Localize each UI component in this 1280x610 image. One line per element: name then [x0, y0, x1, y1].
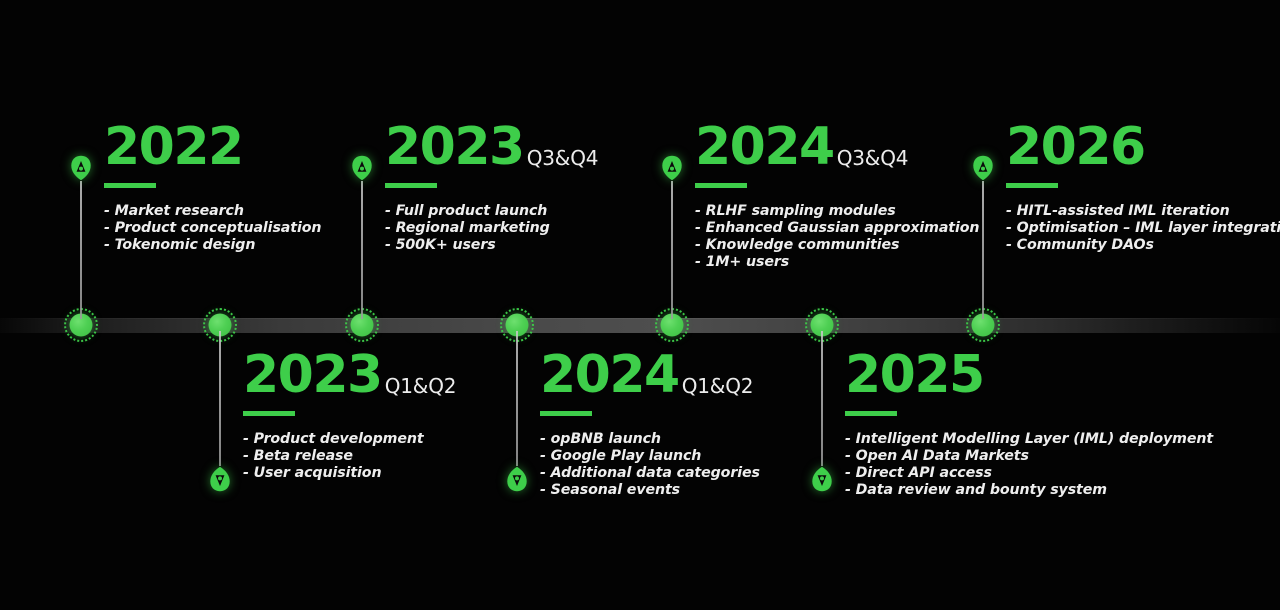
entry-item-list: - Intelligent Modelling Layer (IML) depl… — [845, 431, 1213, 499]
entry-underline — [243, 411, 295, 416]
entry-year: 2023 — [385, 124, 524, 172]
connector-stem-2023-q1q2 — [219, 331, 221, 466]
list-item: - Seasonal events — [540, 482, 760, 499]
list-item: - Intelligent Modelling Layer (IML) depl… — [845, 431, 1213, 448]
list-item: - Full product launch — [385, 203, 598, 220]
entry-quarter: Q1&Q2 — [385, 376, 457, 400]
pin-marker-2024-q3q4[interactable] — [661, 155, 683, 181]
entry-year: 2024 — [540, 352, 679, 400]
entry-heading: 2023Q3&Q4 — [385, 124, 598, 172]
connector-stem-2023-q3q4 — [361, 181, 363, 319]
pin-marker-2023-q3q4[interactable] — [351, 155, 373, 181]
list-item: - 500K+ users — [385, 237, 598, 254]
entry-year: 2023 — [243, 352, 382, 400]
connector-stem-2024-q1q2 — [516, 331, 518, 466]
entry-item-list: - Market research- Product conceptualisa… — [104, 203, 321, 254]
entry-heading: 2024Q3&Q4 — [695, 124, 979, 172]
list-item: - Community DAOs — [1006, 237, 1280, 254]
entry-quarter: Q3&Q4 — [837, 148, 909, 172]
timeline-axis — [0, 318, 1280, 333]
list-item: - Optimisation – IML layer integration — [1006, 220, 1280, 237]
list-item: - Data review and bounty system — [845, 482, 1213, 499]
entry-year: 2026 — [1006, 124, 1145, 172]
entry-underline — [385, 183, 437, 188]
entry-quarter: Q1&Q2 — [682, 376, 754, 400]
list-item: - Tokenomic design — [104, 237, 321, 254]
list-item: - Beta release — [243, 448, 456, 465]
entry-item-list: - RLHF sampling modules- Enhanced Gaussi… — [695, 203, 979, 271]
connector-stem-2024-q3q4 — [671, 181, 673, 319]
entry-item-list: - opBNB launch- Google Play launch- Addi… — [540, 431, 760, 499]
entry-underline — [695, 183, 747, 188]
pin-marker-2025[interactable] — [811, 466, 833, 492]
list-item: - Market research — [104, 203, 321, 220]
entry-heading: 2024Q1&Q2 — [540, 352, 760, 400]
list-item: - RLHF sampling modules — [695, 203, 979, 220]
list-item: - HITL-assisted IML iteration — [1006, 203, 1280, 220]
entry-heading: 2025 — [845, 352, 1213, 400]
list-item: - Product development — [243, 431, 456, 448]
timeline-entry-2023-q3q4: 2023Q3&Q4- Full product launch- Regional… — [385, 124, 598, 254]
connector-stem-2025 — [821, 331, 823, 466]
entry-heading: 2026 — [1006, 124, 1280, 172]
list-item: - Knowledge communities — [695, 237, 979, 254]
list-item: - Product conceptualisation — [104, 220, 321, 237]
pin-marker-2022[interactable] — [70, 155, 92, 181]
pin-marker-2023-q1q2[interactable] — [209, 466, 231, 492]
list-item: - opBNB launch — [540, 431, 760, 448]
list-item: - Google Play launch — [540, 448, 760, 465]
entry-year: 2022 — [104, 124, 243, 172]
entry-item-list: - Product development- Beta release- Use… — [243, 431, 456, 482]
entry-item-list: - Full product launch- Regional marketin… — [385, 203, 598, 254]
entry-underline — [540, 411, 592, 416]
list-item: - Open AI Data Markets — [845, 448, 1213, 465]
timeline-entry-2026: 2026- HITL-assisted IML iteration- Optim… — [1006, 124, 1280, 254]
entry-heading: 2023Q1&Q2 — [243, 352, 456, 400]
timeline-entry-2024-q3q4: 2024Q3&Q4- RLHF sampling modules- Enhanc… — [695, 124, 979, 271]
list-item: - Direct API access — [845, 465, 1213, 482]
list-item: - Regional marketing — [385, 220, 598, 237]
timeline-entry-2024-q1q2: 2024Q1&Q2- opBNB launch- Google Play lau… — [540, 352, 760, 499]
entry-underline — [104, 183, 156, 188]
timeline-entry-2025: 2025- Intelligent Modelling Layer (IML) … — [845, 352, 1213, 499]
timeline-entry-2022: 2022- Market research- Product conceptua… — [104, 124, 321, 254]
entry-heading: 2022 — [104, 124, 321, 172]
entry-quarter: Q3&Q4 — [527, 148, 599, 172]
list-item: - Enhanced Gaussian approximation — [695, 220, 979, 237]
entry-underline — [845, 411, 897, 416]
entry-year: 2024 — [695, 124, 834, 172]
list-item: - Additional data categories — [540, 465, 760, 482]
entry-item-list: - HITL-assisted IML iteration- Optimisat… — [1006, 203, 1280, 254]
timeline-infographic: 2022- Market research- Product conceptua… — [0, 0, 1280, 610]
entry-year: 2025 — [845, 352, 984, 400]
connector-stem-2026 — [982, 181, 984, 319]
entry-underline — [1006, 183, 1058, 188]
list-item: - 1M+ users — [695, 254, 979, 271]
connector-stem-2022 — [80, 181, 82, 319]
list-item: - User acquisition — [243, 465, 456, 482]
pin-marker-2024-q1q2[interactable] — [506, 466, 528, 492]
timeline-entry-2023-q1q2: 2023Q1&Q2- Product development- Beta rel… — [243, 352, 456, 482]
